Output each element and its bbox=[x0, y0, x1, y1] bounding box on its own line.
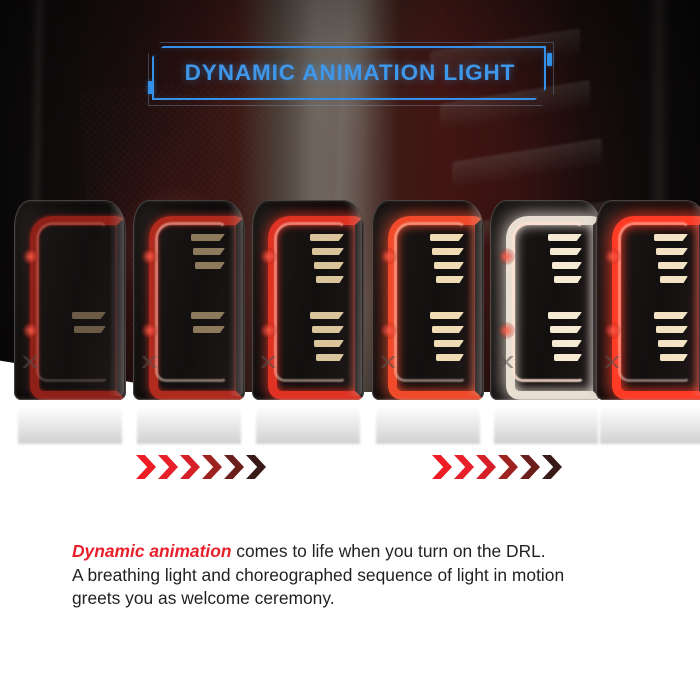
lamp-floor-reflection bbox=[376, 400, 480, 444]
lamp-rim bbox=[596, 200, 700, 400]
chevron-group-left bbox=[136, 455, 266, 479]
chevron-arrow-icon bbox=[136, 455, 156, 479]
chevron-arrow-icon bbox=[432, 455, 452, 479]
lamp-housing bbox=[14, 200, 126, 400]
lamp-housing bbox=[490, 200, 602, 400]
tail-light-unit bbox=[596, 200, 700, 400]
lamp-housing bbox=[252, 200, 364, 400]
lamp-rim bbox=[133, 200, 245, 400]
chevron-arrow-icon bbox=[224, 455, 244, 479]
lamp-housing bbox=[596, 200, 700, 400]
product-marketing-image: DYNAMIC ANIMATION LIGHT bbox=[0, 0, 700, 700]
lamp-floor-reflection bbox=[256, 400, 360, 444]
caption-line-1: Dynamic animation comes to life when you… bbox=[72, 540, 652, 564]
caption-block: Dynamic animation comes to life when you… bbox=[72, 540, 652, 611]
lamp-floor-reflection bbox=[137, 400, 241, 444]
lamp-floor-reflection bbox=[600, 400, 700, 444]
chevron-arrow-icon bbox=[498, 455, 518, 479]
chevron-arrow-icon bbox=[520, 455, 540, 479]
caption-line-1-rest: comes to life when you turn on the DRL. bbox=[231, 541, 545, 561]
chevron-arrow-icon bbox=[476, 455, 496, 479]
chevron-group-right bbox=[432, 455, 562, 479]
chevron-arrow-icon bbox=[202, 455, 222, 479]
caption-line-3: greets you as welcome ceremony. bbox=[72, 587, 652, 611]
chevron-arrow-icon bbox=[246, 455, 266, 479]
chevron-arrow-icon bbox=[454, 455, 474, 479]
tail-light-unit bbox=[14, 200, 126, 400]
lamp-housing bbox=[372, 200, 484, 400]
banner: DYNAMIC ANIMATION LIGHT bbox=[148, 42, 552, 104]
lamp-rim bbox=[14, 200, 126, 400]
lamp-rim bbox=[490, 200, 602, 400]
caption-line-2: A breathing light and choreographed sequ… bbox=[72, 564, 652, 588]
tail-light-unit bbox=[372, 200, 484, 400]
lamp-housing bbox=[133, 200, 245, 400]
banner-title: DYNAMIC ANIMATION LIGHT bbox=[148, 42, 552, 104]
lamp-rim bbox=[372, 200, 484, 400]
lamp-floor-reflection bbox=[18, 400, 122, 444]
tail-light-unit bbox=[252, 200, 364, 400]
chevron-arrow-icon bbox=[542, 455, 562, 479]
lamp-floor-reflection bbox=[494, 400, 598, 444]
tail-light-unit bbox=[133, 200, 245, 400]
tail-light-unit bbox=[490, 200, 602, 400]
caption-highlight: Dynamic animation bbox=[72, 541, 231, 561]
lamp-rim bbox=[252, 200, 364, 400]
chevron-arrow-icon bbox=[158, 455, 178, 479]
chevron-arrow-icon bbox=[180, 455, 200, 479]
